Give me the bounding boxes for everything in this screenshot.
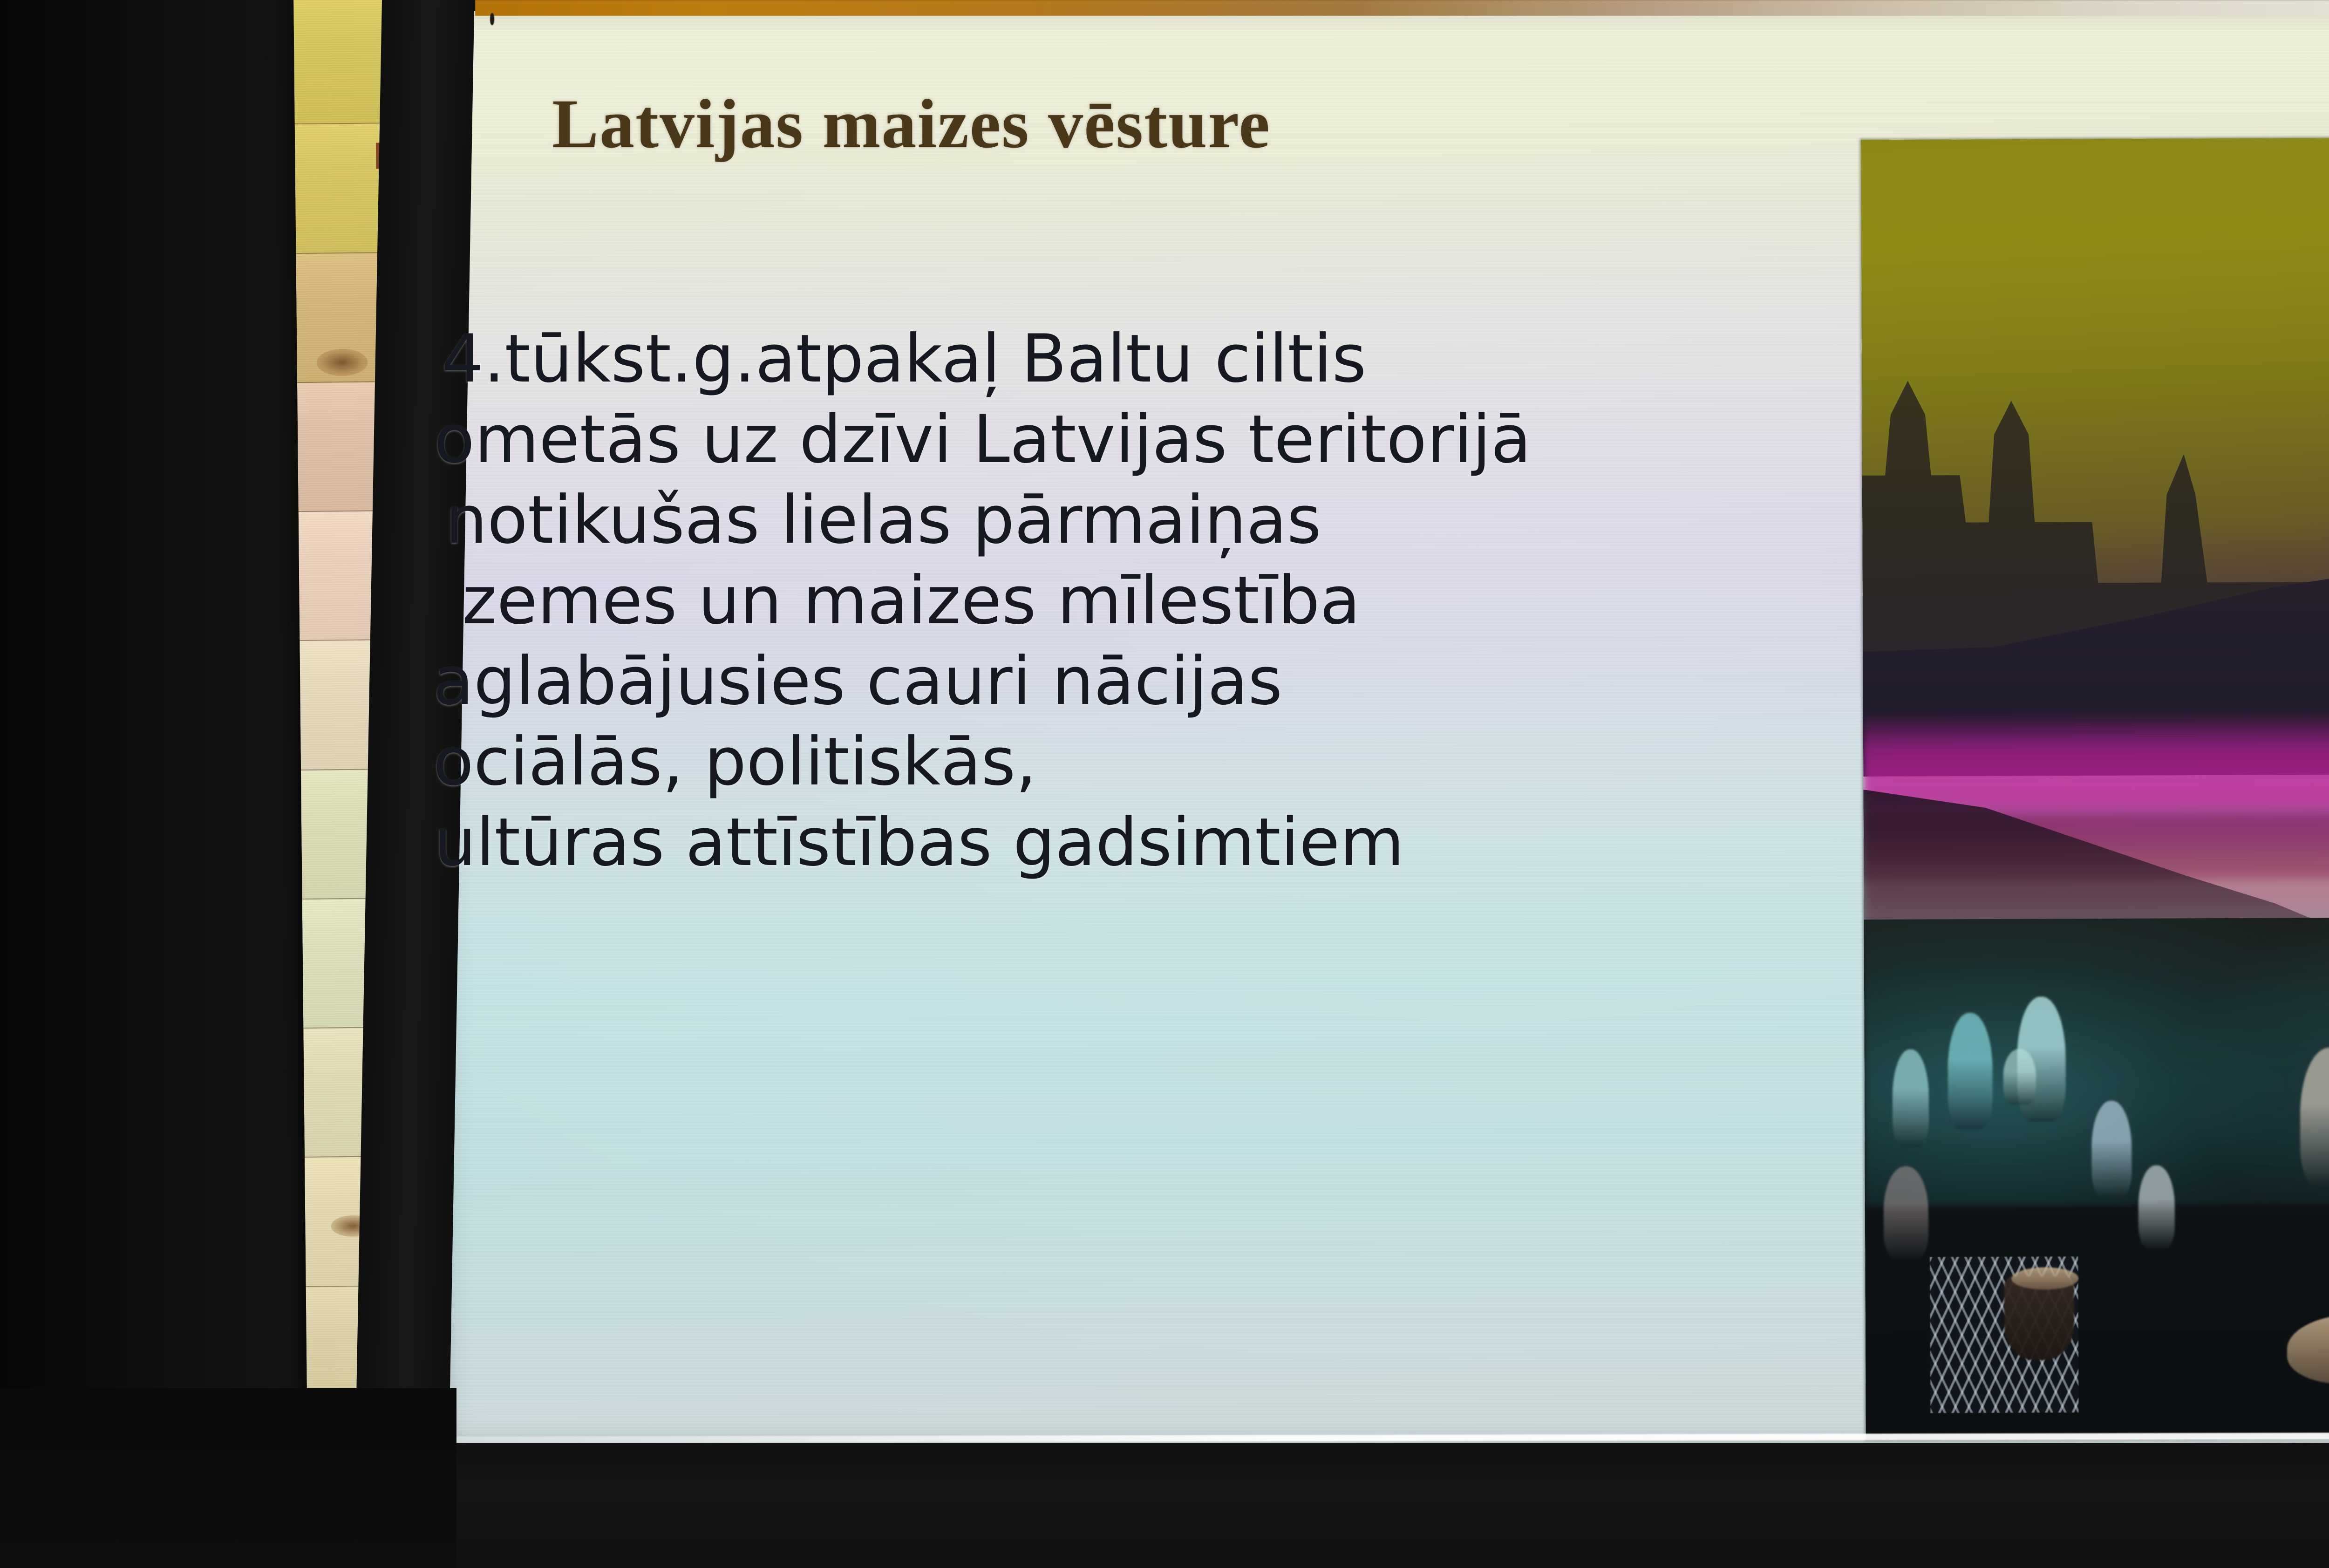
slide-body-line: aglabājusies cauri nācijas [433,648,1924,715]
painting-figure [1948,1013,1993,1129]
screen-speck-artifact [490,13,494,25]
slide-body-line: 4.tūkst.g.atpakaļ Baltu ciltis [442,326,1924,392]
slide-body-line: ometās uz dzīvi Latvijas teritorijā [434,407,1924,473]
wall-plank [293,0,393,124]
screenshot-stage: Latvijas maizes vēsture 4.tūkst.g.atpaka… [0,0,2329,1568]
slide-title: Latvijas maizes vēsture [552,84,1271,164]
projector-overspill-band [475,0,2329,16]
slide-picture-folk-painting [1861,136,2329,1439]
painting-figure [1892,1049,1929,1147]
slide-body-line: ultūras attīstības gadsimtiem [434,810,1924,876]
room-dark-bottom-left [0,1388,456,1568]
room-dark-left-shadow [0,0,298,1568]
painting-figure [2003,1049,2036,1105]
painting-figure [1883,1166,1928,1260]
slide-body-line: zemes un maizes mīlestība [462,568,1924,634]
painting-figure [2138,1166,2175,1249]
slide-body-line: ociālās, politiskās, [433,729,1924,795]
painting-figure [2091,1100,2132,1198]
painting-bowl [2012,1267,2079,1290]
slide-body-text: 4.tūkst.g.atpakaļ Baltu ciltis ometās uz… [433,326,1924,890]
slide-body-line: notikušas lielas pārmaiņas [445,487,1924,553]
